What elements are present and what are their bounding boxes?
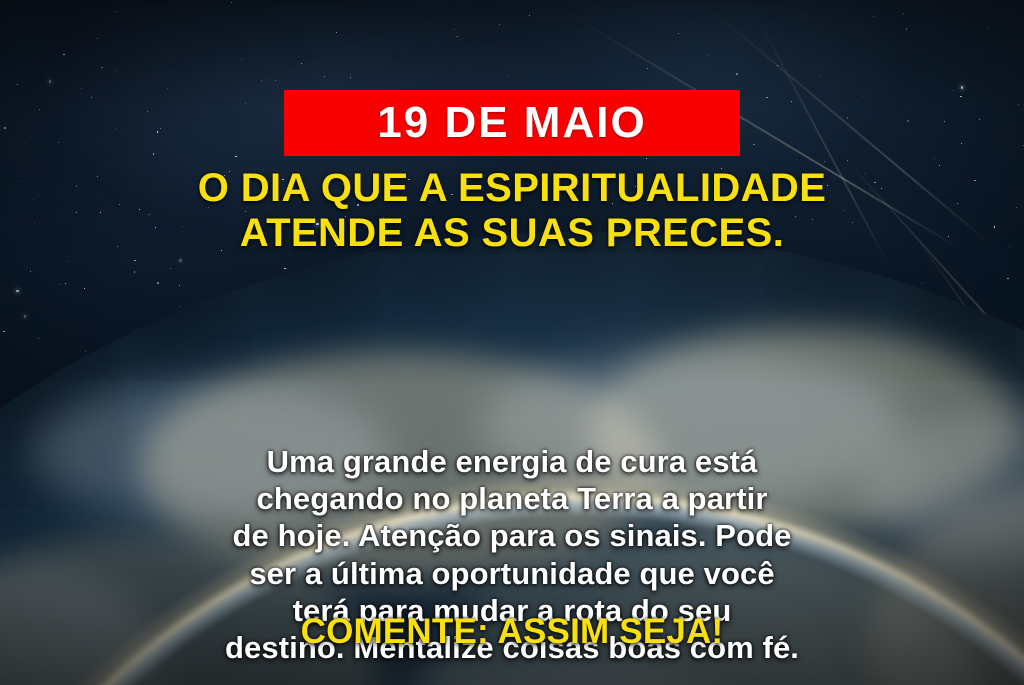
body-copy-line-3: de hoje. Atenção para os sinais. Pode <box>34 517 990 554</box>
body-copy-line-1: Uma grande energia de cura está <box>34 443 990 480</box>
call-to-action-text: COMENTE: ASSIM SEJA! <box>0 614 1024 649</box>
headline-line-1: O DIA QUE A ESPIRITUALIDADE <box>40 166 984 211</box>
poster-canvas: 19 DE MAIO O DIA QUE A ESPIRITUALIDADE A… <box>0 0 1024 685</box>
headline-line-2: ATENDE AS SUAS PRECES. <box>40 211 984 256</box>
body-copy-line-4: ser a última oportunidade que você <box>34 555 990 592</box>
date-banner: 19 DE MAIO <box>284 90 740 156</box>
date-banner-text: 19 DE MAIO <box>377 101 646 145</box>
body-copy-line-2: chegando no planeta Terra a partir <box>34 480 990 517</box>
headline: O DIA QUE A ESPIRITUALIDADE ATENDE AS SU… <box>0 166 1024 256</box>
poster-content: 19 DE MAIO O DIA QUE A ESPIRITUALIDADE A… <box>0 0 1024 685</box>
